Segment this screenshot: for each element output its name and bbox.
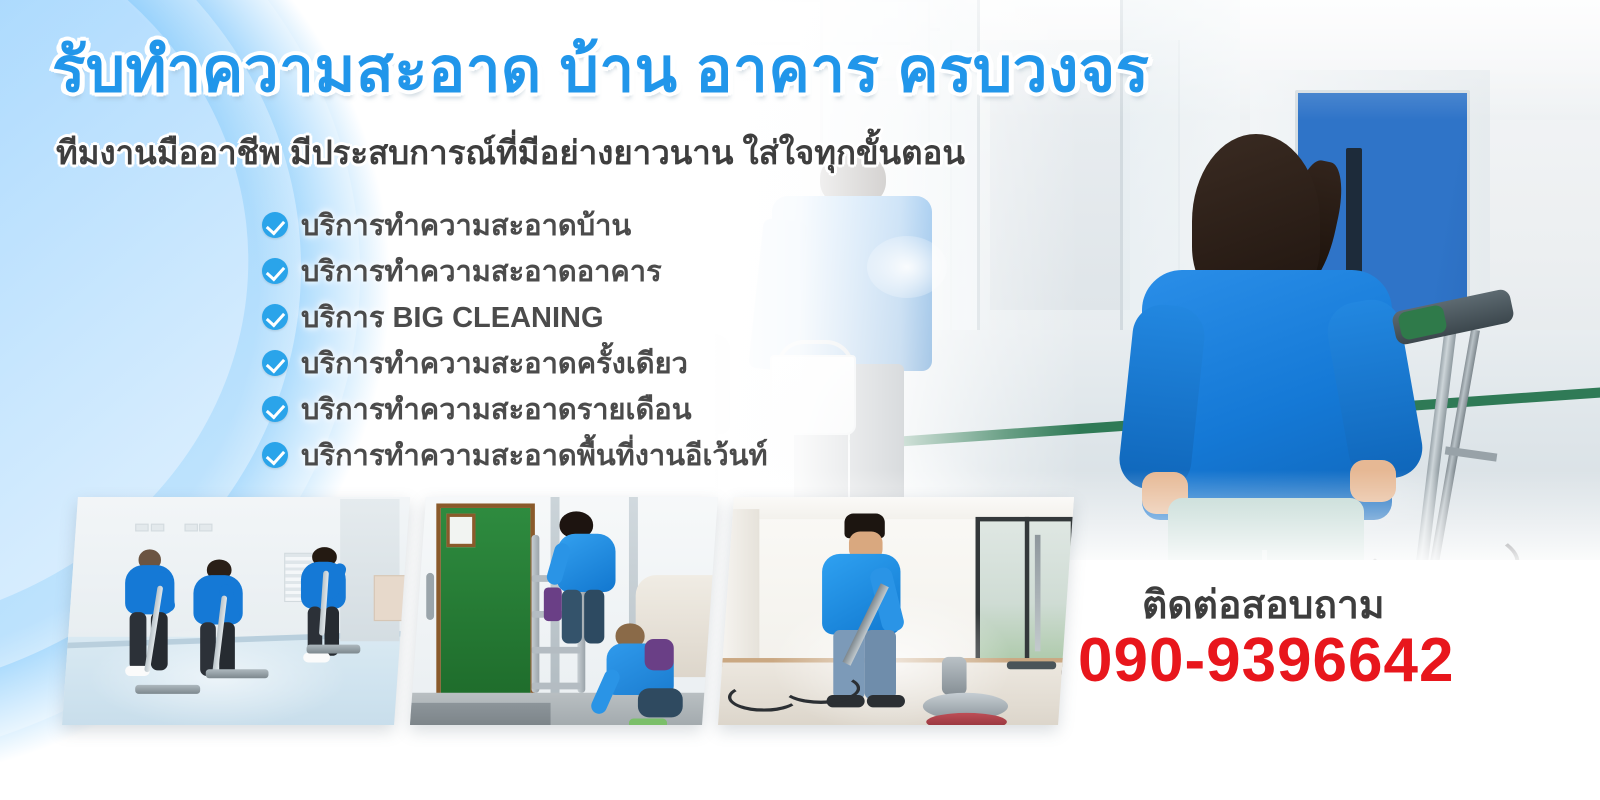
ladder-step (531, 682, 580, 689)
mop-base (1006, 662, 1055, 670)
photo-workers-ladder-green-door (410, 497, 718, 725)
check-circle-icon (262, 396, 288, 422)
photo-worker-floor-polisher-room (718, 497, 1074, 725)
wall-switch (136, 524, 149, 532)
wall-switch (184, 524, 197, 532)
check-circle-icon (262, 350, 288, 376)
worker-backpack (645, 639, 674, 670)
polisher-pad (926, 713, 1007, 725)
wall-cabinet (374, 575, 410, 621)
service-label: บริการ BIG CLEANING (301, 294, 604, 340)
room-floor-dark (410, 703, 551, 725)
check-circle-icon (262, 442, 288, 468)
list-item: บริการทำความสะอาดรายเดือน (262, 386, 768, 432)
cleaning-tool (629, 718, 667, 725)
service-list: บริการทำความสะอาดบ้าน บริการทำความสะอาดอ… (262, 202, 768, 478)
window-mullion (1025, 517, 1029, 675)
service-label: บริการทำความสะอาดอาคาร (301, 248, 662, 294)
photo-content (410, 497, 718, 725)
service-label: บริการทำความสะอาดรายเดือน (301, 386, 692, 432)
worker-crouching (607, 624, 694, 725)
worker-sandal (867, 695, 905, 707)
worker-leg (130, 612, 147, 670)
wall-switch (199, 524, 212, 532)
door-handle (427, 573, 435, 620)
list-item: บริการ BIG CLEANING (262, 294, 768, 340)
list-item: บริการทำความสะอาดครั้งเดียว (262, 340, 768, 386)
worker-leg (562, 590, 582, 644)
cleaning-cloth (544, 588, 562, 622)
wall-switch (150, 524, 163, 532)
photo-content (62, 497, 410, 725)
squeegee-head (307, 644, 361, 653)
phone-number[interactable]: 090-9396642 (1078, 625, 1454, 696)
photo-workers-squeegee-floor (62, 497, 410, 725)
service-label: บริการทำความสะอาดครั้งเดียว (301, 340, 688, 386)
list-item: บริการทำความสะอาดพื้นที่งานอีเว้นท์ (262, 432, 768, 478)
worker-leg (638, 689, 683, 718)
service-label: บริการทำความสะอาดพื้นที่งานอีเว้นท์ (301, 432, 768, 478)
check-circle-icon (262, 304, 288, 330)
photo-content (718, 497, 1074, 725)
squeegee-head (136, 685, 201, 694)
mop-handle (1035, 534, 1041, 651)
check-circle-icon (262, 212, 288, 238)
polisher-grip (1397, 304, 1448, 341)
page-subtitle: ทีมงานมืออาชีพ มีประสบการณ์ที่มีอย่างยาว… (56, 126, 965, 179)
worker-shoe (304, 652, 331, 662)
worker-leg (865, 630, 896, 699)
service-label: บริการทำความสะอาดบ้าน (301, 202, 631, 248)
page-title: รับทำความสะอาด บ้าน อาคาร ครบวงจร (52, 38, 1150, 103)
squeegee-head (206, 670, 269, 679)
check-circle-icon (262, 258, 288, 284)
polisher-motor (942, 657, 967, 695)
cleaning-service-banner: รับทำความสะอาด บ้าน อาคาร ครบวงจร ทีมงาน… (0, 0, 1600, 800)
door-window (446, 514, 475, 547)
power-cord (782, 672, 860, 703)
photo-strip (62, 497, 1122, 737)
worker-leg (585, 590, 605, 644)
list-item: บริการทำความสะอาดบ้าน (262, 202, 768, 248)
list-item: บริการทำความสะอาดอาคาร (262, 248, 768, 294)
